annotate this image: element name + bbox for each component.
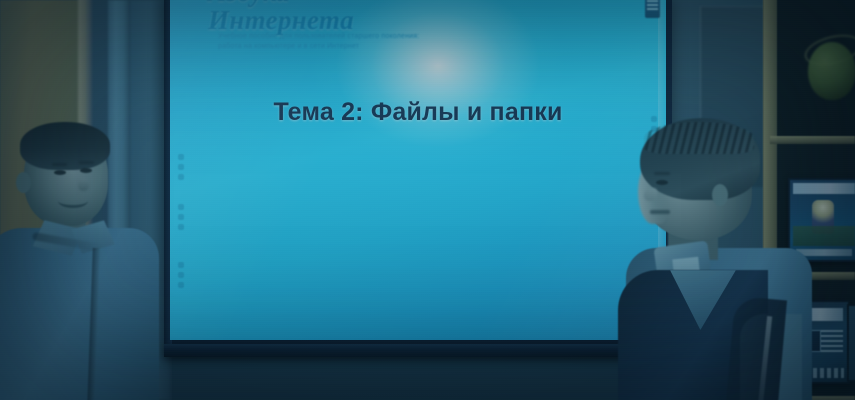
toolbar-dot (178, 204, 184, 210)
toolbar-dot (178, 262, 184, 268)
student-left-nose (78, 178, 89, 191)
student-right-ear (712, 184, 728, 206)
slide-tagline: Учебное пособие для пользователей старше… (218, 32, 433, 52)
screen-toolbar-dots-left-c[interactable] (178, 262, 184, 288)
screen-toolbar-dots-left-b[interactable] (178, 204, 184, 230)
toolbar-dot (178, 214, 184, 220)
globe-object (808, 42, 855, 100)
student-right-hair-texture (644, 122, 754, 154)
student-left-eyebrow (52, 163, 67, 166)
projection-screen[interactable]: Азбука Интернета Учебное пособие для пол… (170, 0, 666, 340)
toolbar-dot (178, 174, 184, 180)
toolbar-dot (178, 154, 184, 160)
student-right (612, 118, 812, 400)
student-right-nose (644, 188, 657, 201)
slide-logo: Азбука Интернета (208, 0, 354, 35)
slide-logo-line2: Интернета (208, 6, 354, 34)
toolbar-dot (178, 282, 184, 288)
student-left-ear (16, 172, 31, 193)
student-right-eyebrow (654, 172, 670, 175)
screen-bezel-bottom (164, 344, 676, 357)
book-cover-bottom-secondary (847, 304, 855, 382)
classroom-photo: Азбука Интернета Учебное пособие для пол… (0, 0, 855, 400)
toolbar-dot (178, 224, 184, 230)
toolbar-dot (178, 272, 184, 278)
student-right-eye (656, 180, 668, 185)
student-left-eye (80, 168, 92, 173)
student-right-mouth (650, 210, 670, 214)
student-left-shirt (0, 228, 159, 400)
toolbar-dot (178, 164, 184, 170)
slide-title: Тема 2: Файлы и папки (170, 98, 666, 127)
student-left-eye (54, 170, 66, 175)
student-left (0, 120, 174, 400)
book-cover-text-lines (821, 330, 843, 352)
presentation-tool-icon[interactable] (645, 0, 660, 18)
student-left-eyebrow (79, 161, 94, 164)
student-left-smile (58, 194, 88, 208)
screen-toolbar-dots-left-a[interactable] (178, 154, 184, 180)
